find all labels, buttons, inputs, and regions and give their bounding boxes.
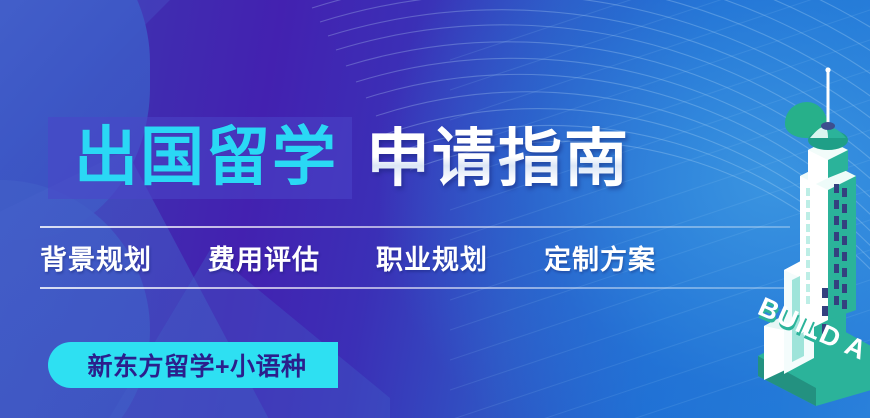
cta-pill-label: 新东方留学+小语种 — [87, 347, 306, 383]
subtitle-item-career-planning: 职业规划 — [376, 238, 488, 277]
subtitle-row: 背景规划 费用评估 职业规划 定制方案 — [40, 238, 700, 277]
headline-highlight-box: 出国留学 — [48, 117, 352, 199]
headline-main-text: 申请指南 — [366, 126, 630, 190]
headline: 出国留学 申请指南 — [48, 117, 630, 199]
headline-highlight-text: 出国留学 — [74, 125, 338, 189]
svg-text:BUILD A: BUILD A — [754, 296, 870, 366]
promo-banner: 出国留学 申请指南 背景规划 费用评估 职业规划 定制方案 新东方留学+小语种 — [0, 0, 870, 418]
subtitle-item-cost-assessment: 费用评估 — [208, 238, 320, 277]
subtitle-item-custom-plan: 定制方案 — [544, 238, 656, 277]
divider-top — [40, 226, 790, 228]
subtitle-item-background-planning: 背景规划 — [40, 238, 152, 277]
build-a-overlay-text: BUILD A BUILD A — [748, 296, 870, 366]
divider-bottom — [40, 287, 790, 289]
cta-pill-button[interactable]: 新东方留学+小语种 — [48, 342, 338, 388]
